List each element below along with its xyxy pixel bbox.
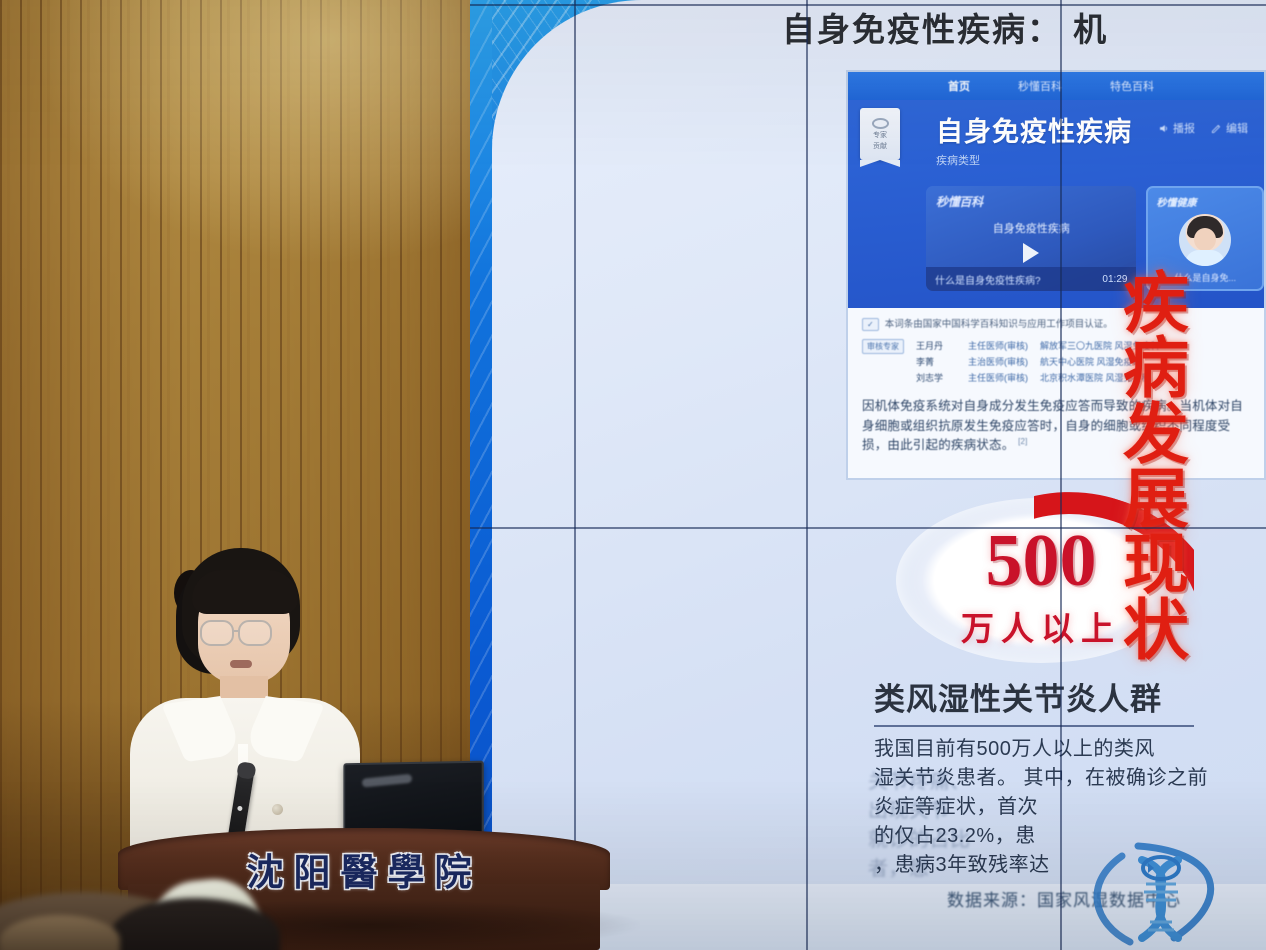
baike-tab-tese[interactable]: 特色百科 [1110,78,1154,94]
baike-reference-mark: [2] [1018,437,1028,446]
mouth-shape [230,660,252,668]
slide-title: 自身免疫性疾病： 机 [782,12,1262,48]
headline-char-2: 病 [1123,337,1189,400]
baike-entry-subtitle: 疾病类型 [936,152,1250,168]
headline-char-6: 状 [1123,599,1189,662]
badge-ring-shape [872,118,889,129]
stat-paragraph-line-3: 炎症等症状，首次 [874,793,1266,822]
dna-double-helix-icon [1082,838,1252,950]
expert-badge-icon: 专家 贡献 [860,108,900,160]
vertical-headline: 疾 病 发 展 现 状 [1102,272,1210,662]
speaker-icon [1158,123,1169,134]
laptop-screen [343,761,483,836]
video-brand-label: 秒懂百科 [936,193,983,210]
verify-icon-chip: ✓ [862,318,879,331]
reviewer-name: 王月丹 [916,339,956,352]
headline-char-1: 疾 [1123,272,1189,335]
headline-char-3: 发 [1123,403,1189,466]
stat-heading: 类风湿性关节炎人群 [874,674,1266,719]
hair-fringe-shape [192,570,298,614]
baike-tab-home[interactable]: 首页 [948,78,970,94]
review-chip: 审核专家 [862,339,904,354]
video-caption-text: 什么是自身免疫性疾病? [935,272,1041,287]
reviewer-title: 主任医师(审核) [968,371,1028,384]
stat-paragraph-line-2: 湿关节炎患者。 其中，在被确诊之前 [874,764,1266,793]
baike-edit-label: 编辑 [1226,120,1248,136]
reviewer-title: 主治医师(审核) [968,355,1028,368]
baike-broadcast-button[interactable]: 播报 [1158,120,1195,136]
avatar-face-shape [1194,228,1216,251]
baike-video-row: 秒懂百科 自身免疫性疾病 什么是自身免疫性疾病? 01:29 秒懂健康 [926,186,1264,291]
baike-action-group: 播报 编辑 [1158,120,1248,136]
reviewer-name: 刘志学 [916,371,956,384]
eyeglass-bridge [234,630,240,632]
led-video-wall: 自身免疫性疾病： 机 首页 秒懂百科 特色百科 专家 贡献 自身免疫性疾病 疾病… [470,0,1266,950]
video-overlay-title: 自身免疫性疾病 [926,220,1136,236]
eyeglass-right-lens [238,620,272,646]
eyeglass-left-lens [200,620,234,646]
reviewer-title: 主任医师(审核) [968,339,1028,352]
headline-char-5: 现 [1123,533,1189,596]
lecture-photo-scene: 自身免疫性疾病： 机 首页 秒懂百科 特色百科 专家 贡献 自身免疫性疾病 疾病… [0,0,1266,950]
play-icon[interactable] [1023,243,1039,263]
reviewer-name: 李菁 [916,355,956,368]
badge-label-2: 贡献 [873,143,887,151]
baike-broadcast-label: 播报 [1173,120,1195,136]
video2-brand-label: 秒懂健康 [1156,194,1196,209]
avatar-body-shape [1185,250,1225,266]
baike-tab-miaodong[interactable]: 秒懂百科 [1018,78,1062,94]
baike-edit-button[interactable]: 编辑 [1211,120,1248,136]
badge-label-1: 专家 [873,132,887,140]
stat-paragraph-line-1: 我国目前有500万人以上的类风 [874,735,1266,764]
stat-divider [874,725,1194,727]
pencil-icon [1211,123,1222,134]
microphone-indicator [237,806,243,812]
headline-char-4: 展 [1123,468,1189,531]
baike-nav-bar: 首页 秒懂百科 特色百科 [848,72,1264,100]
baike-verify-note: 本词条由国家中国科学百科知识与应用工作项目认证。 [885,318,1113,332]
doctor-avatar [1179,214,1231,266]
screen-glare [362,774,413,788]
lapel-pin [272,804,283,815]
